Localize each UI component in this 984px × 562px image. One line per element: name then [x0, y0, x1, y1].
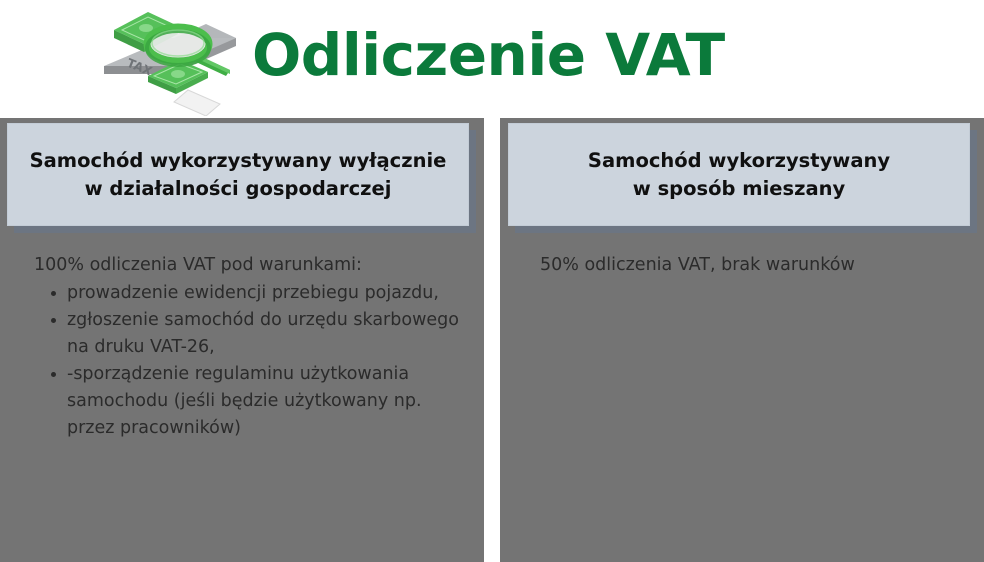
list-item: -sporządzenie regulaminu użytkowania sam… [34, 361, 464, 442]
body-mixed-use: 50% odliczenia VAT, brak warunków [540, 252, 970, 280]
card-mixed-use[interactable]: Samochód wykorzystywany w sposób mieszan… [508, 123, 970, 226]
bullet-list-left: prowadzenie ewidencji przebiegu pojazdu,… [34, 280, 464, 442]
tax-magnifier-money-icon: TAX [96, 4, 248, 116]
body-exclusive-business-use: 100% odliczenia VAT pod warunkami: prowa… [34, 252, 464, 442]
card-title-right-line2: w sposób mieszany [633, 177, 845, 200]
card-title-left-line1: Samochód wykorzystywany wyłącznie [30, 149, 447, 172]
intro-text-left: 100% odliczenia VAT pod warunkami: [34, 252, 464, 279]
intro-text-right: 50% odliczenia VAT, brak warunków [540, 252, 970, 279]
slide-root: TAX [0, 0, 984, 562]
slide-header: TAX [0, 0, 984, 118]
card-exclusive-business-use[interactable]: Samochód wykorzystywany wyłącznie w dzia… [7, 123, 469, 226]
list-item: prowadzenie ewidencji przebiegu pojazdu, [34, 280, 464, 307]
card-title-left: Samochód wykorzystywany wyłącznie w dzia… [18, 147, 459, 203]
list-item: zgłoszenie samochód do urzędu skarbowego… [34, 307, 464, 361]
card-title-right: Samochód wykorzystywany w sposób mieszan… [576, 147, 902, 203]
card-title-right-line1: Samochód wykorzystywany [588, 149, 890, 172]
page-title: Odliczenie VAT [252, 24, 725, 86]
card-title-left-line2: w działalności gospodarczej [85, 177, 392, 200]
